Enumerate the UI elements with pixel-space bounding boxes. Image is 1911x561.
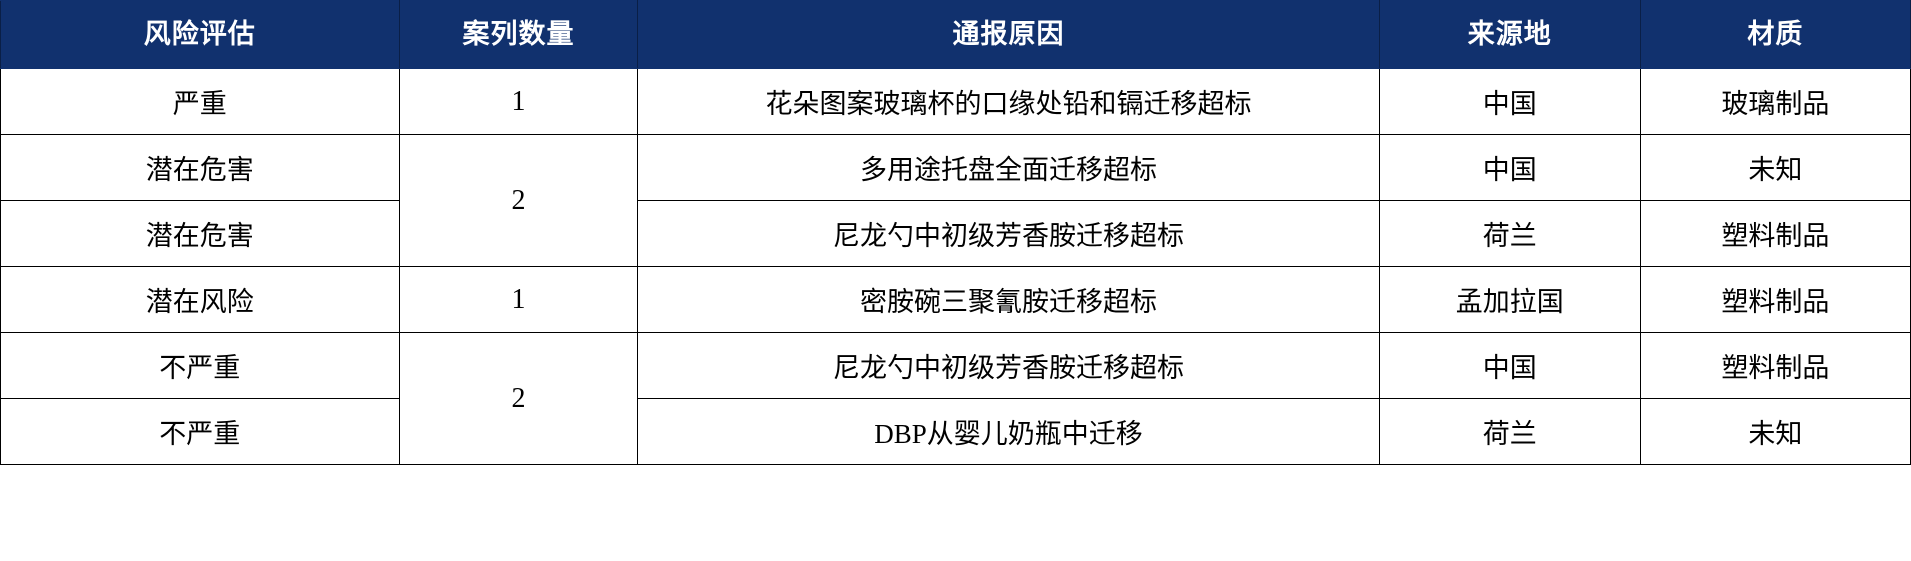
cell-notification-reason: 密胺碗三聚氰胺迁移超标 bbox=[638, 267, 1379, 333]
cell-origin: 中国 bbox=[1379, 135, 1640, 201]
cell-risk-assessment: 潜在危害 bbox=[1, 135, 400, 201]
cell-material: 塑料制品 bbox=[1640, 267, 1910, 333]
cell-risk-assessment: 潜在风险 bbox=[1, 267, 400, 333]
cell-risk-assessment: 不严重 bbox=[1, 399, 400, 465]
cell-case-count: 1 bbox=[399, 267, 638, 333]
cell-material: 塑料制品 bbox=[1640, 333, 1910, 399]
table-row: 不严重2尼龙勺中初级芳香胺迁移超标中国塑料制品 bbox=[1, 333, 1911, 399]
notification-table-container: 风险评估 案列数量 通报原因 来源地 材质 严重1花朵图案玻璃杯的口缘处铅和镉迁… bbox=[0, 0, 1911, 561]
column-header-case-count: 案列数量 bbox=[399, 1, 638, 69]
table-row: 潜在危害2多用途托盘全面迁移超标中国未知 bbox=[1, 135, 1911, 201]
table-row: 严重1花朵图案玻璃杯的口缘处铅和镉迁移超标中国玻璃制品 bbox=[1, 69, 1911, 135]
cell-origin: 孟加拉国 bbox=[1379, 267, 1640, 333]
cell-origin: 中国 bbox=[1379, 333, 1640, 399]
cell-origin: 中国 bbox=[1379, 69, 1640, 135]
table-header-row: 风险评估 案列数量 通报原因 来源地 材质 bbox=[1, 1, 1911, 69]
cell-case-count: 2 bbox=[399, 333, 638, 465]
cell-notification-reason: 尼龙勺中初级芳香胺迁移超标 bbox=[638, 201, 1379, 267]
cell-notification-reason: 多用途托盘全面迁移超标 bbox=[638, 135, 1379, 201]
cell-material: 未知 bbox=[1640, 135, 1910, 201]
cell-risk-assessment: 潜在危害 bbox=[1, 201, 400, 267]
column-header-origin: 来源地 bbox=[1379, 1, 1640, 69]
table-row: 潜在危害尼龙勺中初级芳香胺迁移超标荷兰塑料制品 bbox=[1, 201, 1911, 267]
cell-notification-reason: 尼龙勺中初级芳香胺迁移超标 bbox=[638, 333, 1379, 399]
column-header-notification-reason: 通报原因 bbox=[638, 1, 1379, 69]
table-row: 潜在风险1密胺碗三聚氰胺迁移超标孟加拉国塑料制品 bbox=[1, 267, 1911, 333]
table-row: 不严重DBP从婴儿奶瓶中迁移荷兰未知 bbox=[1, 399, 1911, 465]
cell-material: 未知 bbox=[1640, 399, 1910, 465]
notification-table: 风险评估 案列数量 通报原因 来源地 材质 严重1花朵图案玻璃杯的口缘处铅和镉迁… bbox=[0, 0, 1911, 465]
cell-origin: 荷兰 bbox=[1379, 201, 1640, 267]
cell-case-count: 1 bbox=[399, 69, 638, 135]
cell-material: 玻璃制品 bbox=[1640, 69, 1910, 135]
cell-notification-reason: DBP从婴儿奶瓶中迁移 bbox=[638, 399, 1379, 465]
cell-material: 塑料制品 bbox=[1640, 201, 1910, 267]
cell-origin: 荷兰 bbox=[1379, 399, 1640, 465]
table-body: 严重1花朵图案玻璃杯的口缘处铅和镉迁移超标中国玻璃制品潜在危害2多用途托盘全面迁… bbox=[1, 69, 1911, 465]
table-header: 风险评估 案列数量 通报原因 来源地 材质 bbox=[1, 1, 1911, 69]
column-header-material: 材质 bbox=[1640, 1, 1910, 69]
cell-notification-reason: 花朵图案玻璃杯的口缘处铅和镉迁移超标 bbox=[638, 69, 1379, 135]
column-header-risk-assessment: 风险评估 bbox=[1, 1, 400, 69]
cell-risk-assessment: 不严重 bbox=[1, 333, 400, 399]
cell-risk-assessment: 严重 bbox=[1, 69, 400, 135]
cell-case-count: 2 bbox=[399, 135, 638, 267]
